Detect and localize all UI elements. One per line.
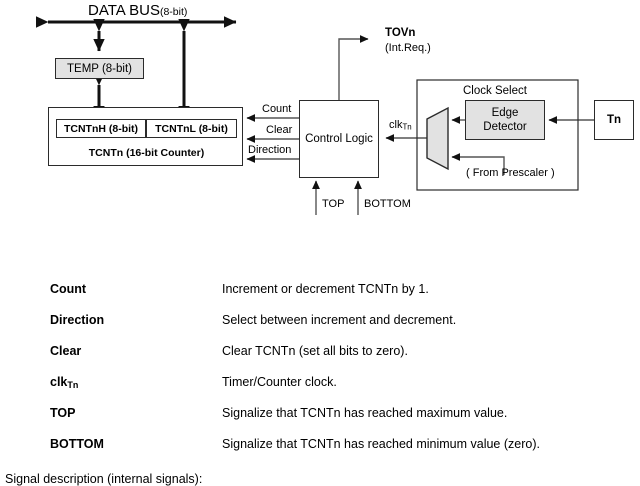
signal-name-count: Count bbox=[50, 282, 86, 296]
signal-name-clk-tn: clkTn bbox=[50, 375, 78, 390]
tcntnl-register-block: TCNTnL (8-bit) bbox=[146, 119, 237, 138]
signal-desc-count: Increment or decrement TCNTn by 1. bbox=[222, 282, 429, 296]
count-label: Count bbox=[262, 104, 291, 115]
data-bus-label: DATA BUS(8-bit) bbox=[88, 3, 187, 18]
edge-detector-label-line1: Edge bbox=[492, 106, 519, 120]
signal-row-clk-tn: clkTn Timer/Counter clock. bbox=[0, 375, 640, 397]
tcntnh-label: TCNTnH (8-bit) bbox=[64, 123, 138, 135]
signal-row-count: Count Increment or decrement TCNTn by 1. bbox=[0, 282, 640, 304]
signal-desc-top: Signalize that TCNTn has reached maximum… bbox=[222, 406, 507, 420]
signal-row-direction: Direction Select between increment and d… bbox=[0, 313, 640, 335]
signal-name-clk-subscript: Tn bbox=[67, 380, 78, 390]
signal-desc-bottom: Signalize that TCNTn has reached minimum… bbox=[222, 437, 540, 451]
signal-row-top: TOP Signalize that TCNTn has reached max… bbox=[0, 406, 640, 428]
signal-row-clear: Clear Clear TCNTn (set all bits to zero)… bbox=[0, 344, 640, 366]
tn-input-block: Tn bbox=[594, 100, 634, 140]
signal-name-clear: Clear bbox=[50, 344, 81, 358]
top-label: TOP bbox=[322, 199, 344, 210]
bottom-label: BOTTOM bbox=[364, 199, 411, 210]
clock-select-label: Clock Select bbox=[463, 86, 527, 98]
tcntnl-label: TCNTnL (8-bit) bbox=[155, 123, 228, 135]
tovn-signal-line bbox=[339, 39, 368, 100]
tovn-interrupt-request-label: (Int.Req.) bbox=[385, 43, 431, 54]
signal-name-clk-text: clk bbox=[50, 375, 67, 389]
edge-detector-block: Edge Detector bbox=[465, 100, 545, 140]
timer-counter-block-diagram: DATA BUS(8-bit) TEMP (8-bit) TCNTnH (8-b… bbox=[0, 0, 640, 230]
tn-label: Tn bbox=[607, 114, 621, 126]
temp-register-label: TEMP (8-bit) bbox=[67, 63, 132, 75]
from-prescaler-label: ( From Prescaler ) bbox=[466, 168, 555, 179]
tovn-label: TOVn bbox=[385, 28, 415, 40]
control-logic-label: Control Logic bbox=[305, 133, 373, 145]
data-bus-width-label: (8-bit) bbox=[160, 6, 187, 18]
tcntn-counter-block: TCNTnH (8-bit) TCNTnL (8-bit) TCNTn (16-… bbox=[48, 107, 243, 166]
signal-row-bottom: BOTTOM Signalize that TCNTn has reached … bbox=[0, 437, 640, 459]
signal-desc-direction: Select between increment and decrement. bbox=[222, 313, 456, 327]
clk-subscript: Tn bbox=[402, 123, 411, 132]
temp-register-block: TEMP (8-bit) bbox=[55, 58, 144, 79]
edge-detector-label-line2: Detector bbox=[483, 120, 526, 134]
signal-description-section: Signal description (internal signals): C… bbox=[0, 232, 640, 440]
clock-multiplexer bbox=[427, 108, 448, 169]
signal-name-direction: Direction bbox=[50, 313, 104, 327]
signal-description-heading: Signal description (internal signals): bbox=[5, 472, 202, 486]
signal-desc-clear: Clear TCNTn (set all bits to zero). bbox=[222, 344, 408, 358]
tcntn-counter-label: TCNTn (16-bit Counter) bbox=[49, 148, 244, 159]
clk-text: clk bbox=[389, 119, 402, 131]
direction-label: Direction bbox=[248, 145, 291, 156]
tcntnh-register-block: TCNTnH (8-bit) bbox=[56, 119, 146, 138]
signal-name-bottom: BOTTOM bbox=[50, 437, 104, 451]
signal-name-top: TOP bbox=[50, 406, 75, 420]
clk-tn-label: clkTn bbox=[389, 120, 412, 132]
signal-desc-clk-tn: Timer/Counter clock. bbox=[222, 375, 337, 389]
clear-label: Clear bbox=[266, 125, 292, 136]
control-logic-block: Control Logic bbox=[299, 100, 379, 178]
